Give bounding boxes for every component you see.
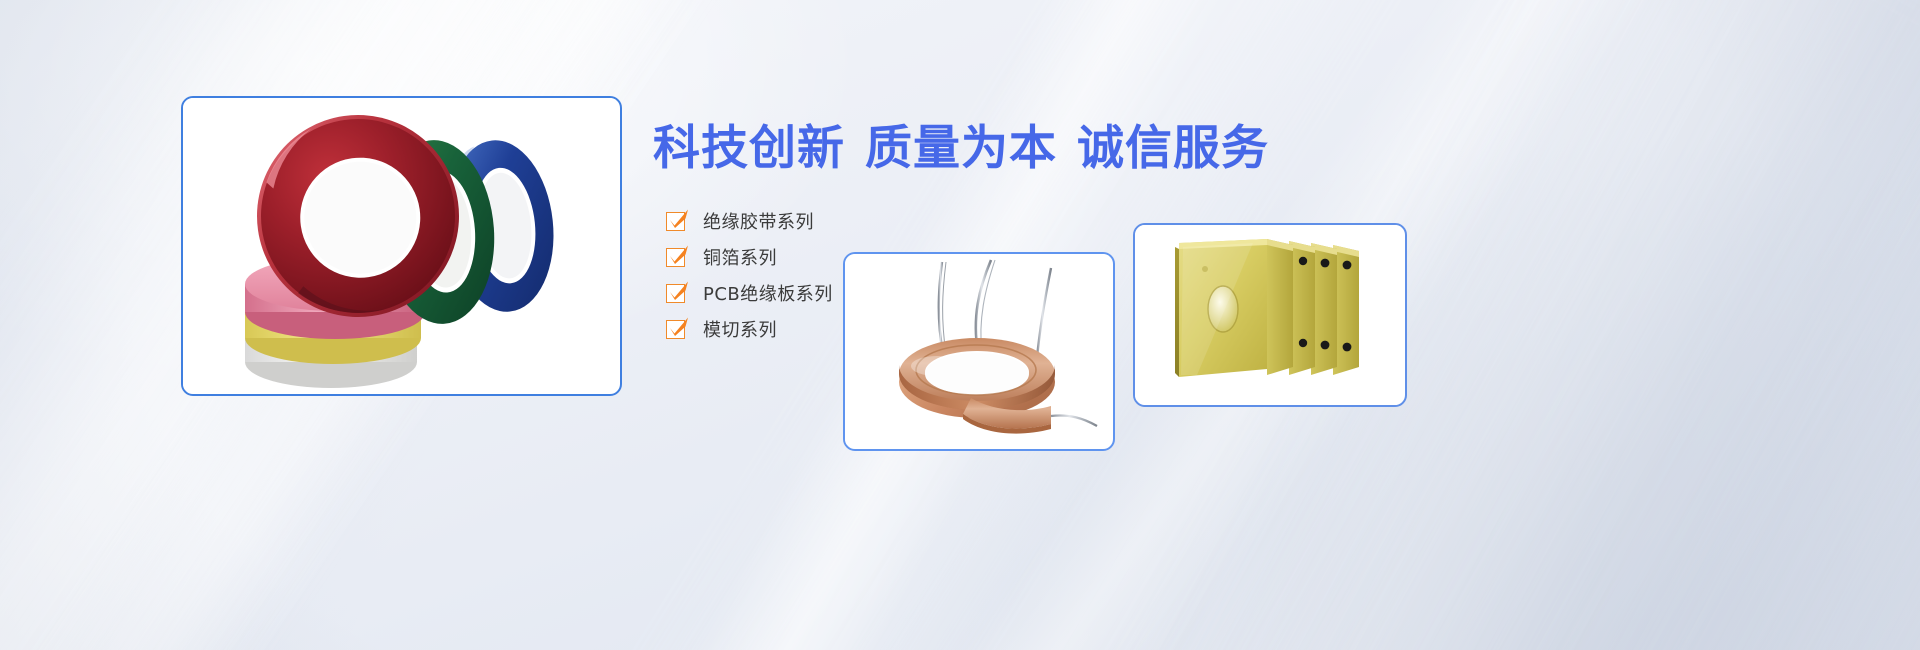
check-box-icon[interactable] bbox=[666, 248, 685, 267]
check-mark-icon bbox=[665, 314, 691, 340]
banner-headline: 科技创新质量为本诚信服务 bbox=[653, 125, 1269, 172]
tape-rolls-illustration: MYTAPE bbox=[183, 98, 616, 390]
feature-checklist: 绝缘胶带系列 铜箔系列 PCB绝缘板系列 bbox=[666, 203, 833, 347]
check-mark-icon bbox=[665, 278, 691, 304]
check-mark-icon bbox=[665, 242, 691, 268]
copper-foil-illustration bbox=[845, 254, 1109, 445]
headline-part-3: 诚信服务 bbox=[1077, 121, 1269, 176]
promo-banner: MYTAPE bbox=[0, 0, 1920, 650]
list-item-label: 铜箔系列 bbox=[703, 244, 777, 270]
check-box-icon[interactable] bbox=[666, 284, 685, 303]
insulation-tape-photo: MYTAPE bbox=[183, 98, 620, 394]
pcb-board-photo bbox=[1135, 225, 1405, 405]
product-card-pcb-boards[interactable] bbox=[1133, 223, 1407, 407]
list-item-label: PCB绝缘板系列 bbox=[703, 280, 833, 306]
headline-part-1: 科技创新 bbox=[653, 121, 845, 176]
copper-foil-photo bbox=[845, 254, 1113, 449]
list-item[interactable]: 铜箔系列 bbox=[666, 239, 833, 275]
check-mark-icon bbox=[665, 206, 691, 232]
list-item[interactable]: PCB绝缘板系列 bbox=[666, 275, 833, 311]
check-box-icon[interactable] bbox=[666, 212, 685, 231]
list-item-label: 模切系列 bbox=[703, 316, 777, 342]
pcb-boards-illustration bbox=[1135, 225, 1401, 401]
headline-part-2: 质量为本 bbox=[865, 121, 1057, 176]
product-card-copper-foil[interactable] bbox=[843, 252, 1115, 451]
check-box-icon[interactable] bbox=[666, 320, 685, 339]
list-item[interactable]: 绝缘胶带系列 bbox=[666, 203, 833, 239]
product-card-insulation-tape[interactable]: MYTAPE bbox=[181, 96, 622, 396]
list-item[interactable]: 模切系列 bbox=[666, 311, 833, 347]
list-item-label: 绝缘胶带系列 bbox=[703, 208, 814, 234]
